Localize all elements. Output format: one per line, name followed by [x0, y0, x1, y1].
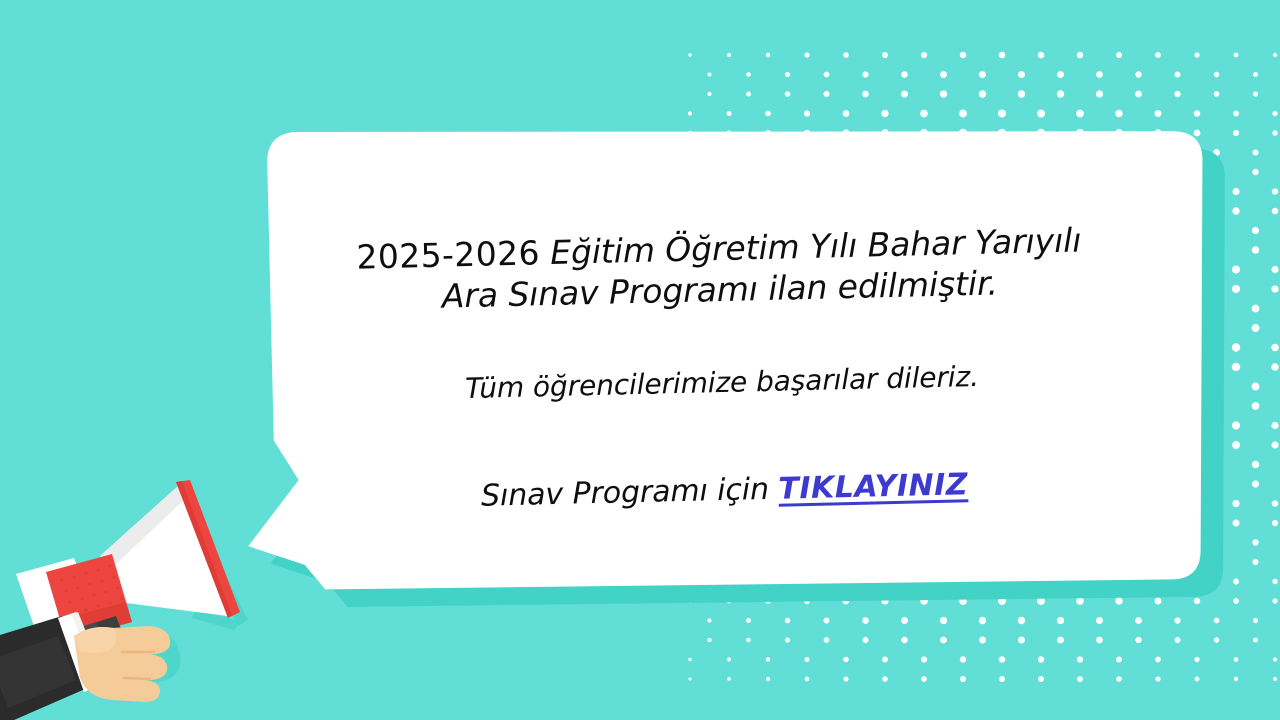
announcement-text-block: 2025-2026 Eğitim Öğretim Yılı Bahar Yarı… [248, 185, 1197, 579]
wishes-line: Tüm öğrencilerimize başarılar dileriz. [465, 360, 980, 406]
cta-prefix-label: Sınav Programı için [481, 472, 779, 514]
exam-schedule-link[interactable]: TIKLAYINIZ [778, 467, 968, 506]
announcement-banner: 2025-2026 Eğitim Öğretim Yılı Bahar Yarı… [0, 0, 1280, 720]
cta-line: Sınav Programı için TIKLAYINIZ [481, 466, 969, 515]
headline-rest-label: Eğitim Öğretim Yılı Bahar Yarıyılı [539, 221, 1081, 273]
academic-year-label: 2025-2026 [356, 233, 540, 276]
megaphone-icon [0, 430, 300, 720]
